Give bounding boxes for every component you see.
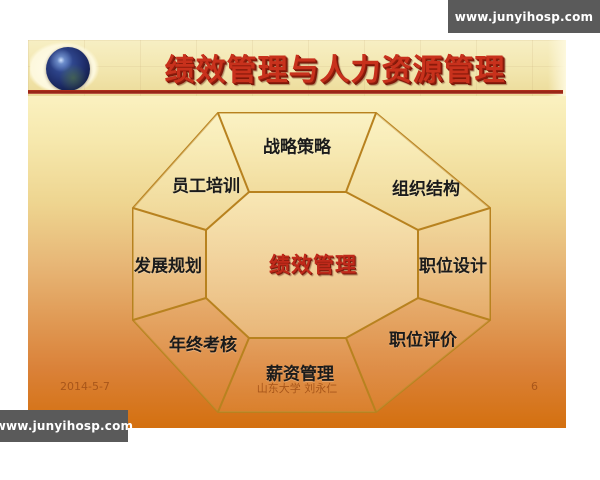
segment-label-top-left: 员工培训 bbox=[172, 172, 240, 197]
center-label: 绩效管理 bbox=[269, 249, 357, 279]
footer-organization: 山东大学 刘永仁 bbox=[28, 380, 566, 396]
segment-label-bottom-right: 职位评价 bbox=[389, 326, 457, 351]
segment-label-bottom-left: 年终考核 bbox=[169, 331, 237, 356]
segment-label-top: 战略策略 bbox=[263, 133, 331, 158]
footer-page-number: 6 bbox=[531, 380, 538, 393]
segment-label-top-right: 组织结构 bbox=[392, 175, 460, 200]
segment-label-left: 发展规划 bbox=[134, 252, 202, 277]
watermark-bottom: www.junyihosp.com bbox=[0, 410, 128, 442]
watermark-top: www.junyihosp.com bbox=[448, 0, 600, 33]
octagon-diagram: 战略策略 组织结构 职位设计 职位评价 薪资管理 年终考核 发展规划 员工培训 … bbox=[28, 40, 566, 428]
slide-canvas: 绩效管理与人力资源管理 bbox=[28, 40, 566, 428]
segment-label-right: 职位设计 bbox=[419, 252, 487, 277]
